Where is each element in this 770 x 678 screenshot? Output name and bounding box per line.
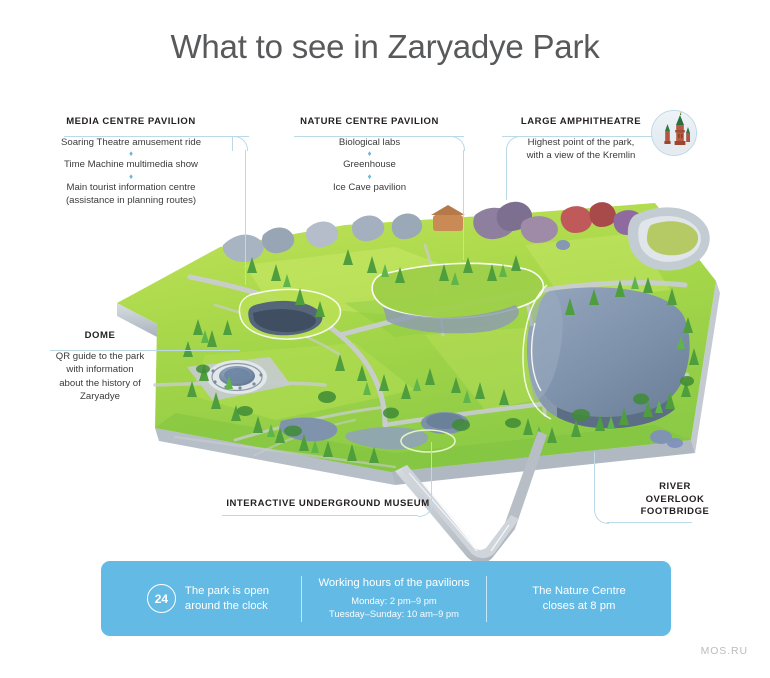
connector-dome-line bbox=[180, 350, 240, 351]
dome-line-2: with information bbox=[66, 364, 133, 375]
callout-footbridge-text: RIVER OVERLOOK FOOTBRIDGE bbox=[620, 481, 730, 519]
dome-line-4: Zaryadye bbox=[80, 391, 120, 402]
callout-museum-heading: INTERACTIVE UNDERGROUND MUSEUM bbox=[222, 498, 434, 509]
info-bar-hours-segment: Working hours of the pavilions Monday: 2… bbox=[302, 561, 486, 636]
callout-museum: INTERACTIVE UNDERGROUND MUSEUM bbox=[222, 498, 434, 514]
callout-nature-centre: NATURE CENTRE PAVILION Biological labs ♦… bbox=[272, 116, 467, 194]
connector-media-centre-corner bbox=[232, 136, 248, 151]
callout-dome-heading: DOME bbox=[20, 330, 180, 341]
nature-close-line-2: closes at 8 pm bbox=[543, 600, 616, 612]
callout-media-centre-rule bbox=[64, 136, 249, 137]
nature-item-1: Greenhouse bbox=[343, 159, 396, 170]
info-bar-nature-text: The Nature Centre closes at 8 pm bbox=[532, 584, 626, 614]
bullet-dot-icon: ♦ bbox=[26, 150, 236, 157]
page-title: What to see in Zaryadye Park bbox=[0, 28, 770, 66]
bullet-dot-icon: ♦ bbox=[272, 173, 467, 180]
hours-line-1: Monday: 2 pm–9 pm bbox=[351, 595, 436, 606]
info-bar: 24 The park is open around the clock Wor… bbox=[101, 561, 671, 636]
callout-footbridge: RIVER OVERLOOK FOOTBRIDGE bbox=[620, 481, 730, 524]
callout-amphitheatre-body: Highest point of the park, with a view o… bbox=[506, 136, 656, 163]
connector-media-centre-line bbox=[245, 150, 246, 285]
nature-item-2: Ice Cave pavilion bbox=[333, 182, 406, 193]
callout-footbridge-rule bbox=[607, 522, 692, 523]
open-line-2: around the clock bbox=[185, 600, 268, 612]
amphitheatre-line-1: Highest point of the park, bbox=[528, 137, 635, 148]
hours-heading: Working hours of the pavilions bbox=[318, 577, 469, 589]
badge-24-icon: 24 bbox=[147, 584, 176, 613]
callout-media-centre: MEDIA CENTRE PAVILION Soaring Theatre am… bbox=[26, 116, 236, 208]
media-item-1: Time Machine multimedia show bbox=[64, 159, 198, 170]
nature-close-line-1: The Nature Centre bbox=[532, 585, 626, 597]
info-bar-open-segment: 24 The park is open around the clock bbox=[101, 561, 301, 636]
callout-amphitheatre-heading: LARGE AMPHITHEATRE bbox=[506, 116, 656, 127]
callout-nature-centre-body: Biological labs ♦ Greenhouse ♦ Ice Cave … bbox=[272, 136, 467, 194]
infographic-root: What to see in Zaryadye Park bbox=[0, 0, 770, 678]
callout-amphitheatre: LARGE AMPHITHEATRE Highest point of the … bbox=[506, 116, 656, 163]
callout-dome-rule bbox=[50, 350, 180, 351]
amphitheatre-line-2: with a view of the Kremlin bbox=[527, 150, 636, 161]
hours-detail: Monday: 2 pm–9 pm Tuesday–Sunday: 10 am–… bbox=[318, 595, 469, 620]
connector-nature-centre-line bbox=[463, 150, 464, 260]
callout-media-centre-body: Soaring Theatre amusement ride ♦ Time Ma… bbox=[26, 136, 236, 208]
callout-nature-centre-rule bbox=[294, 136, 464, 137]
media-item-0: Soaring Theatre amusement ride bbox=[61, 137, 201, 148]
mos-ru-watermark: MOS.RU bbox=[701, 645, 748, 657]
connector-museum-line bbox=[431, 442, 432, 503]
callout-museum-rule bbox=[222, 515, 418, 516]
nature-item-0: Biological labs bbox=[339, 137, 400, 148]
callout-dome-body: QR guide to the park with information ab… bbox=[20, 350, 180, 404]
dome-line-1: QR guide to the park bbox=[56, 351, 145, 362]
callout-amphitheatre-rule bbox=[502, 136, 662, 137]
media-item-note: (assistance in planning routes) bbox=[66, 195, 196, 206]
bullet-dot-icon: ♦ bbox=[272, 150, 467, 157]
dome-line-3: about the history of bbox=[59, 378, 141, 389]
bullet-dot-icon: ♦ bbox=[26, 173, 236, 180]
info-bar-hours-text: Working hours of the pavilions Monday: 2… bbox=[318, 576, 469, 620]
open-line-1: The park is open bbox=[185, 585, 269, 597]
kremlin-tower-icon bbox=[651, 110, 697, 156]
footbridge-line-2: OVERLOOK bbox=[646, 494, 705, 505]
callout-nature-centre-heading: NATURE CENTRE PAVILION bbox=[272, 116, 467, 127]
callout-media-centre-heading: MEDIA CENTRE PAVILION bbox=[26, 116, 236, 127]
footbridge-line-1: RIVER bbox=[659, 481, 691, 492]
media-item-2: Main tourist information centre bbox=[66, 182, 195, 193]
info-bar-nature-segment: The Nature Centre closes at 8 pm bbox=[487, 561, 671, 636]
info-bar-open-text: The park is open around the clock bbox=[185, 584, 269, 614]
hours-line-2: Tuesday–Sunday: 10 am–9 pm bbox=[329, 608, 459, 619]
footbridge-line-3: FOOTBRIDGE bbox=[641, 506, 710, 517]
connector-amphitheatre-line bbox=[506, 150, 507, 200]
callout-dome: DOME QR guide to the park with informati… bbox=[20, 330, 180, 404]
connector-footbridge-line bbox=[594, 452, 595, 510]
